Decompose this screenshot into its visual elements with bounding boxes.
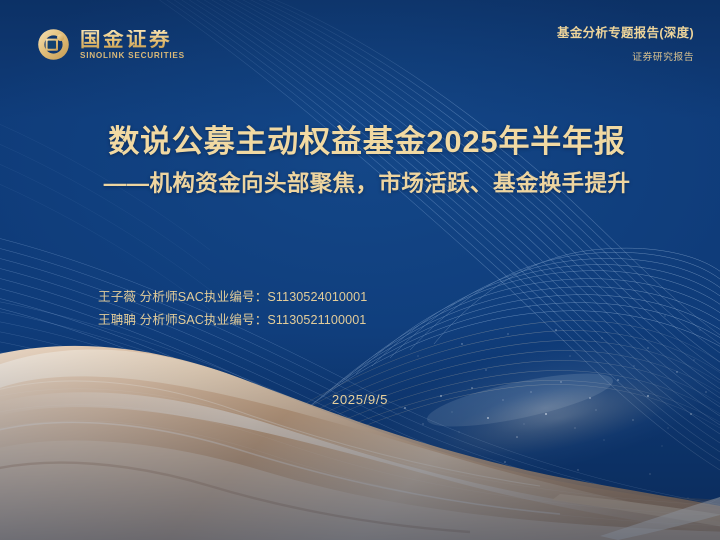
page-title: 数说公募主动权益基金2025年半年报 [14,124,720,161]
logo-name-cn: 国金证券 [80,30,185,51]
header-report-labels: 基金分析专题报告(深度) 证券研究报告 [557,26,694,64]
report-category: 基金分析专题报告(深度) [557,26,694,41]
author-line: 王子薇 分析师SAC执业编号：S1130524010001 [98,286,367,309]
cover-header: 国金证券 SINOLINK SECURITIES 基金分析专题报告(深度) 证券… [0,0,720,88]
publish-date: 2025/9/5 [0,392,720,407]
title-block: 数说公募主动权益基金2025年半年报 ——机构资金向头部聚焦，市场活跃、基金换手… [0,124,720,197]
logo-name-en: SINOLINK SECURITIES [80,52,185,60]
author-list: 王子薇 分析师SAC执业编号：S1130524010001 王聃聃 分析师SAC… [98,286,367,331]
logo-wordmark: 国金证券 SINOLINK SECURITIES [80,29,185,61]
sinolink-circle-mark-icon [36,27,71,62]
author-line: 王聃聃 分析师SAC执业编号：S1130521100001 [98,309,367,332]
report-cover-slide: 国金证券 SINOLINK SECURITIES 基金分析专题报告(深度) 证券… [0,0,720,540]
report-kind: 证券研究报告 [557,52,694,64]
company-logo: 国金证券 SINOLINK SECURITIES [36,27,185,62]
page-subtitle: ——机构资金向头部聚焦，市场活跃、基金换手提升 [14,170,720,197]
